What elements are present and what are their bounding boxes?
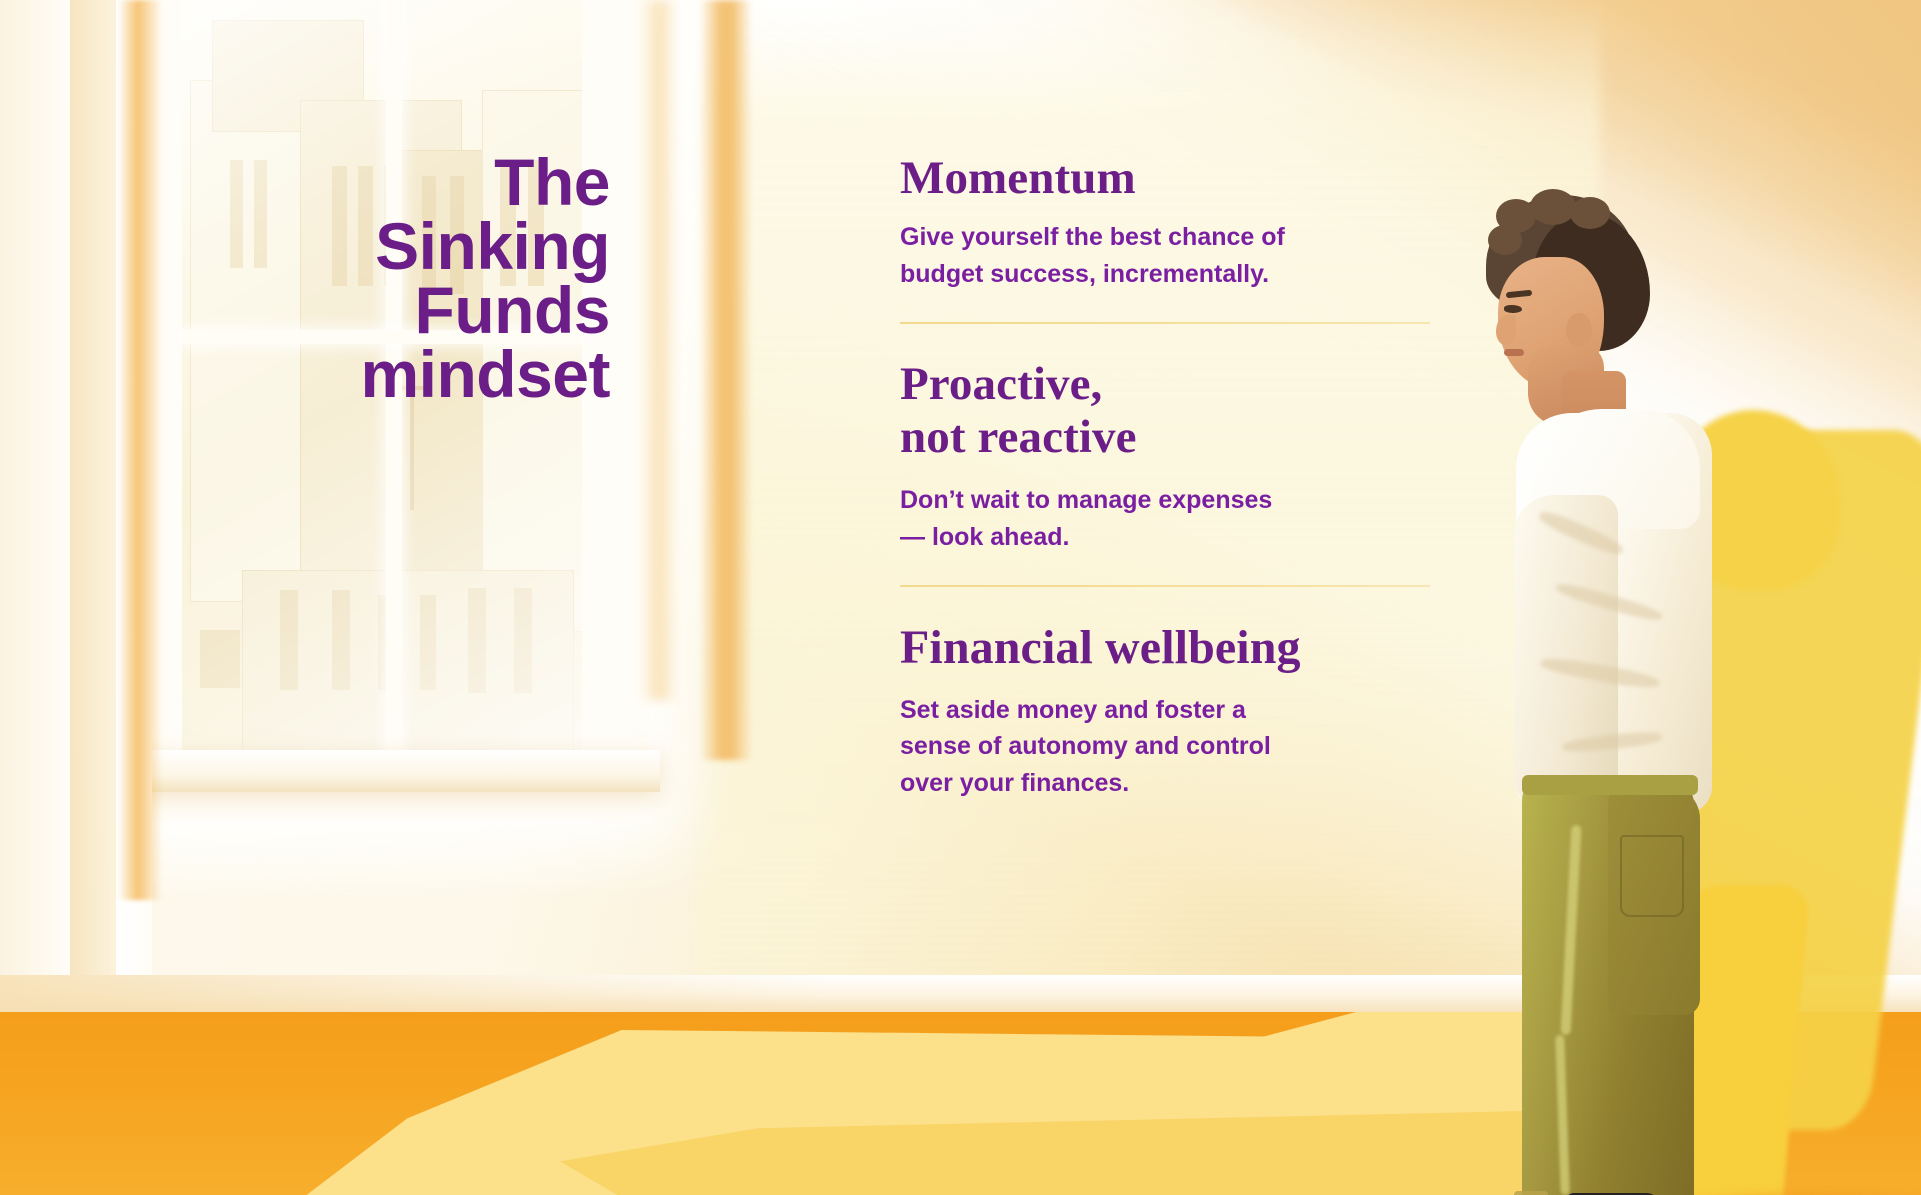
point-body: Don’t wait to manage expenses — look ahe… [900,482,1460,555]
body-line: sense of autonomy and control [900,728,1460,765]
window-jamb-mid [70,0,116,1005]
hair-curl [1530,189,1576,225]
trousers-waistband [1522,775,1698,795]
window-sill [140,750,660,792]
title-line-3: Funds [180,278,610,342]
body-line: Set aside money and foster a [900,692,1460,729]
section-divider-2 [900,585,1430,587]
lips [1504,349,1524,356]
point-proactive: Proactive, not reactive Don’t wait to ma… [900,358,1460,555]
point-financial-wellbeing: Financial wellbeing Set aside money and … [900,621,1460,801]
ear [1566,313,1592,347]
window-jamb-left [0,0,70,1005]
body-line: Don’t wait to manage expenses [900,482,1460,519]
wall-light-strip [700,0,752,760]
shoe-lace [1514,1191,1548,1195]
point-heading: Momentum [900,152,1460,205]
point-heading: Financial wellbeing [900,621,1460,675]
title-line-2: Sinking [180,214,610,278]
section-divider-1 [900,322,1430,324]
points-column: Momentum Give yourself the best chance o… [900,152,1460,801]
point-body: Give yourself the best chance of budget … [900,219,1460,292]
body-line: budget success, incrementally. [900,256,1460,293]
page-title: The Sinking Funds mindset [180,150,610,406]
body-line: — look ahead. [900,519,1460,556]
point-heading: Proactive, not reactive [900,358,1460,464]
body-line: over your finances. [900,765,1460,802]
hair-curl [1570,197,1610,229]
point-body: Set aside money and foster a sense of au… [900,692,1460,802]
wall-light-strip-soft [640,0,678,700]
hair-curl [1488,225,1522,255]
eye [1504,305,1522,313]
heading-line: Financial wellbeing [900,621,1460,675]
person-figure [1470,195,1921,1085]
body-line: Give yourself the best chance of [900,219,1460,256]
window-warm-edge [118,0,162,900]
trousers-pocket [1620,835,1684,917]
heading-line: Momentum [900,152,1460,205]
heading-line: not reactive [900,411,1460,464]
point-momentum: Momentum Give yourself the best chance o… [900,152,1460,292]
illustration-slide: The Sinking Funds mindset Momentum Give … [0,0,1921,1195]
baseboard-shading [0,975,1200,1015]
nose [1496,315,1516,345]
heading-line: Proactive, [900,358,1460,411]
title-line-1: The [180,150,610,214]
title-line-4: mindset [180,342,610,406]
